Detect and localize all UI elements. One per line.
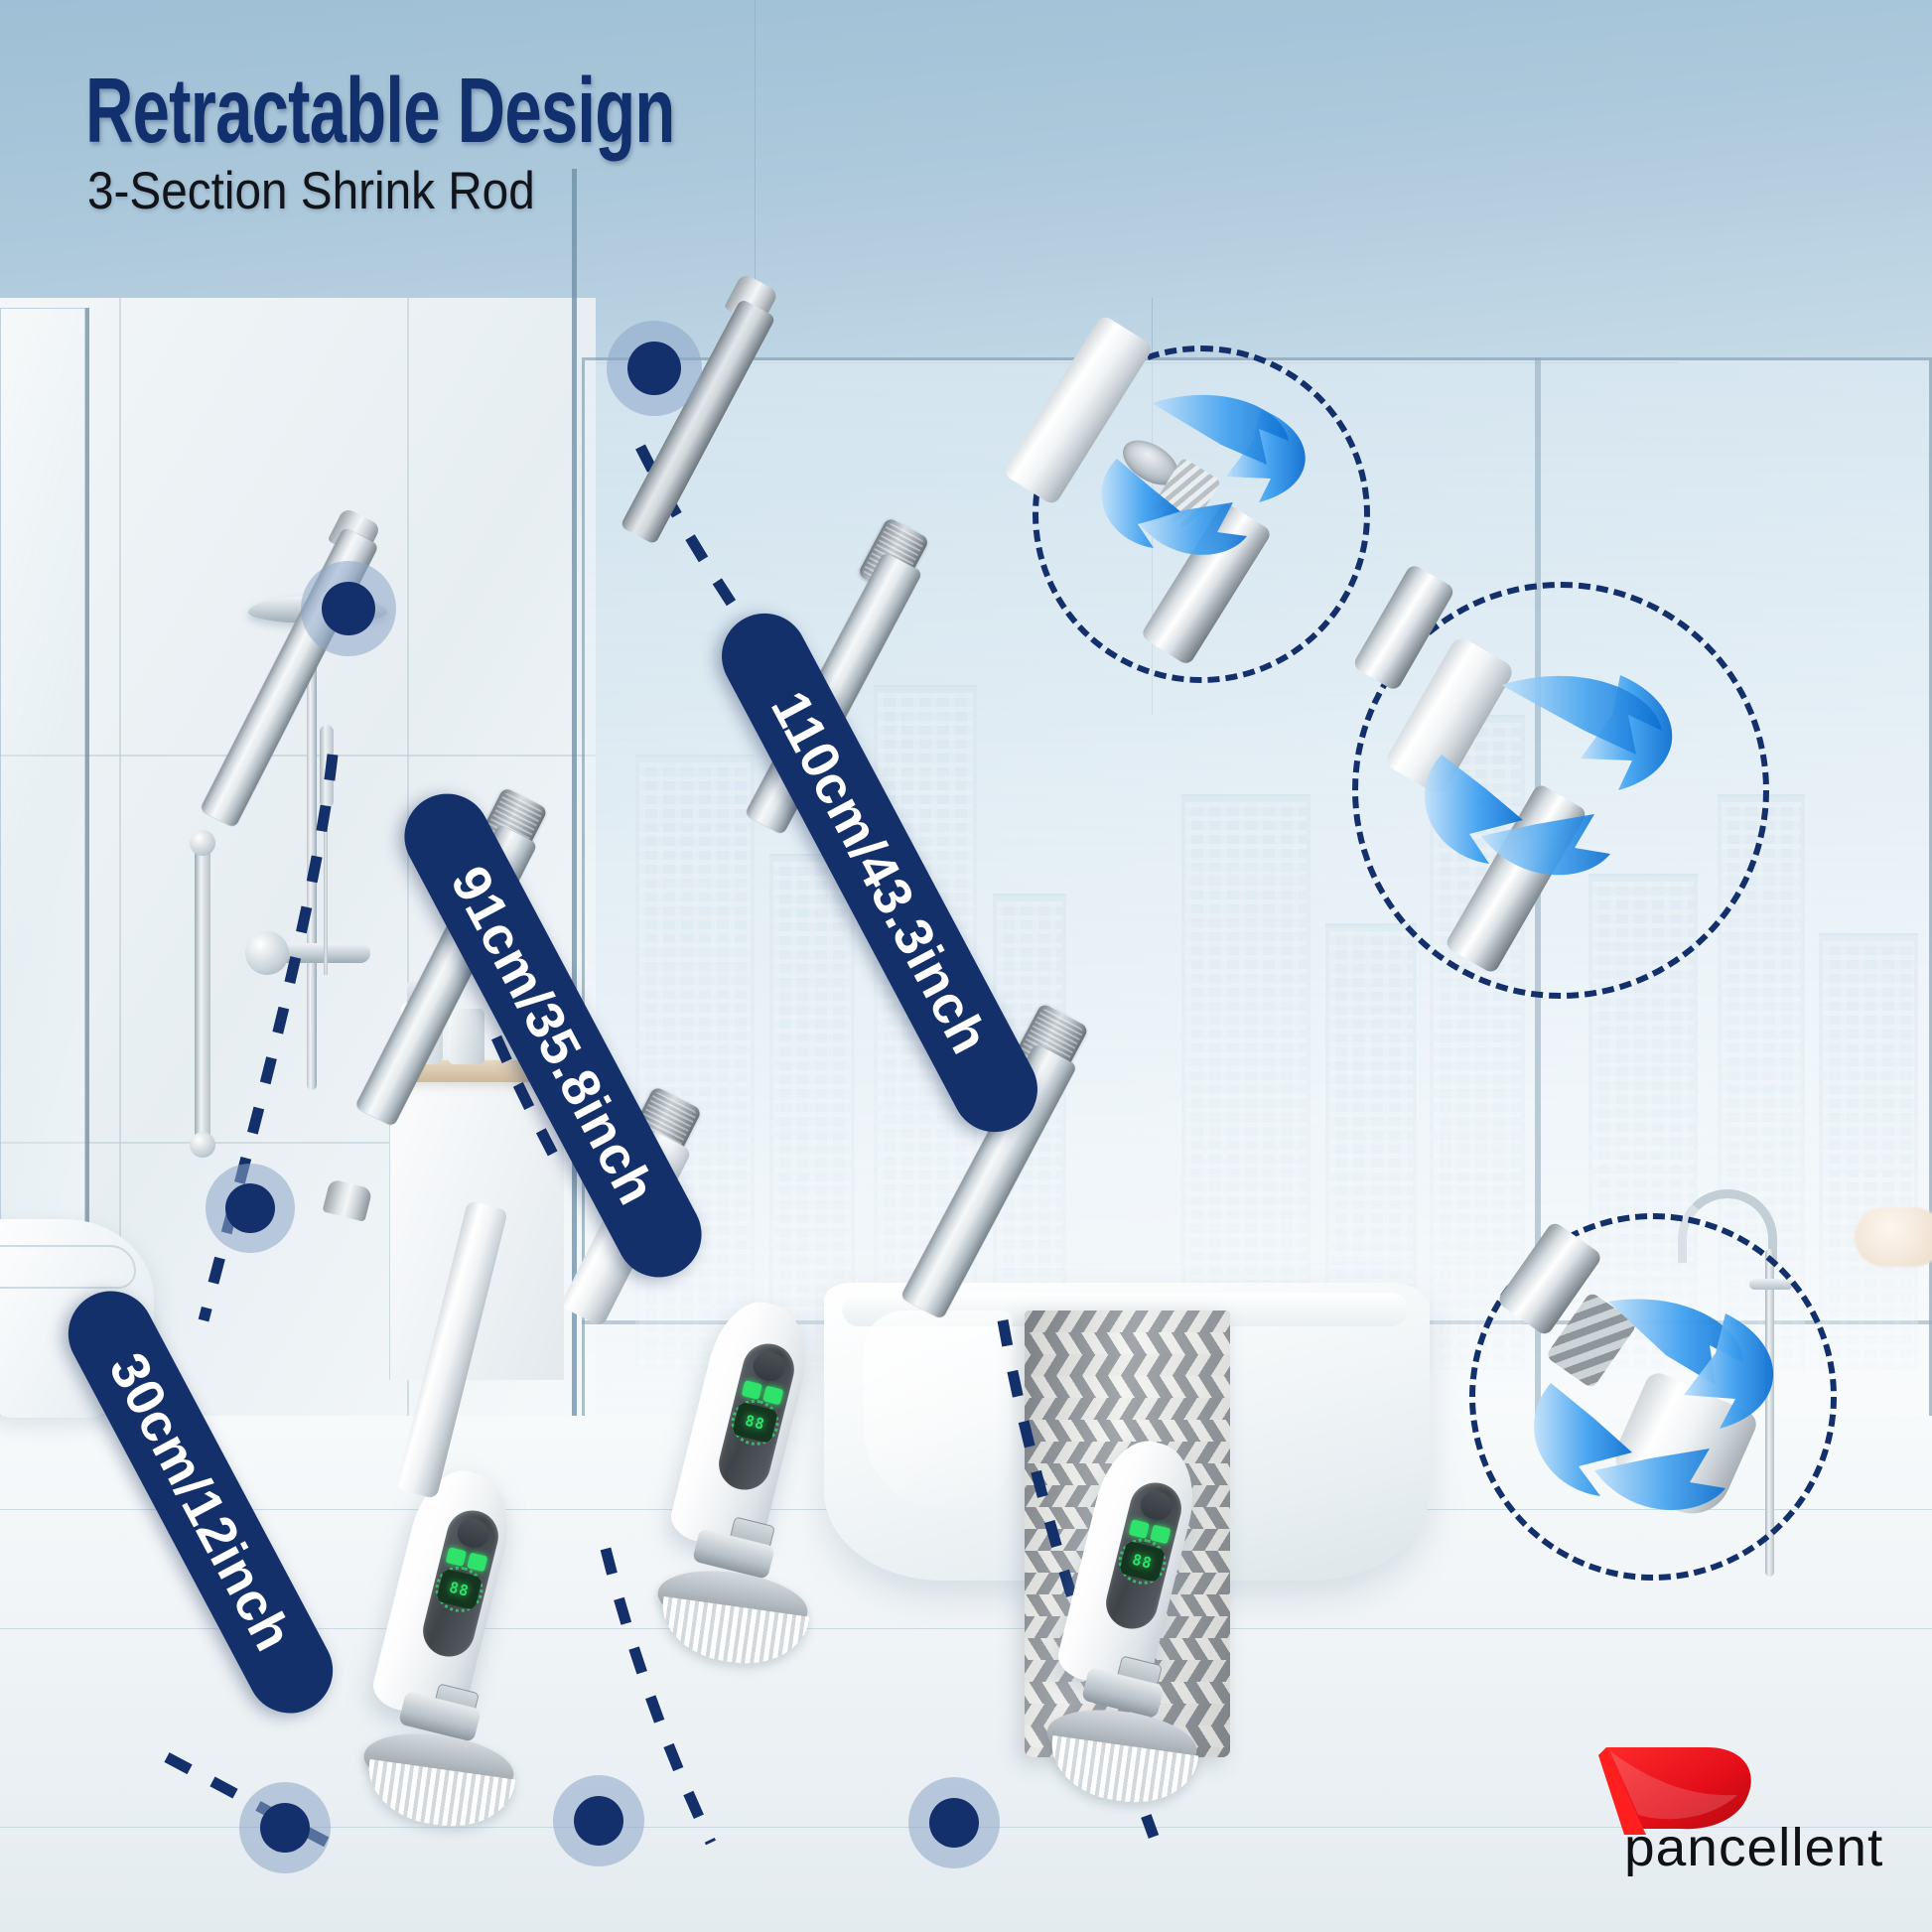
power-button-icon[interactable]: [751, 1349, 788, 1384]
grab-bar-cap: [190, 830, 215, 856]
grab-bar: [195, 839, 210, 1147]
toiletry-bottle: [449, 1009, 484, 1064]
brand-name: pancellent: [1624, 1817, 1883, 1878]
callout-dot-short-top[interactable]: [322, 582, 375, 635]
callout-dot-medium-bottom[interactable]: [574, 1796, 623, 1846]
bathtub-highlight: [864, 1311, 1013, 1509]
hand-shower: [320, 725, 334, 808]
shower-hose: [324, 806, 328, 975]
brand-logo: pancellent: [1588, 1739, 1886, 1888]
product-infographic: Retractable Design 3-Section Shrink Rod …: [0, 0, 1932, 1932]
rotate-arrows-icon: [1342, 576, 1779, 1013]
page-title: Retractable Design: [85, 58, 675, 164]
callout-dot-long-bottom[interactable]: [929, 1798, 979, 1848]
power-button-icon[interactable]: [1138, 1488, 1175, 1523]
decor-plant: [1855, 1207, 1932, 1267]
rotate-arrows-icon: [1023, 338, 1380, 695]
rotate-arrows-icon: [1459, 1206, 1847, 1593]
shower-riser-bar: [307, 623, 317, 1090]
shower-valve-knob: [245, 931, 289, 975]
tile-seam: [0, 755, 596, 757]
power-button-icon[interactable]: [455, 1516, 492, 1551]
callout-dot-short-bottom[interactable]: [260, 1803, 310, 1853]
page-subtitle: 3-Section Shrink Rod: [87, 161, 535, 221]
grab-bar-cap: [190, 1132, 215, 1158]
callout-dot-long-top[interactable]: [627, 342, 681, 395]
callout-dot-short-mid[interactable]: [225, 1183, 275, 1233]
